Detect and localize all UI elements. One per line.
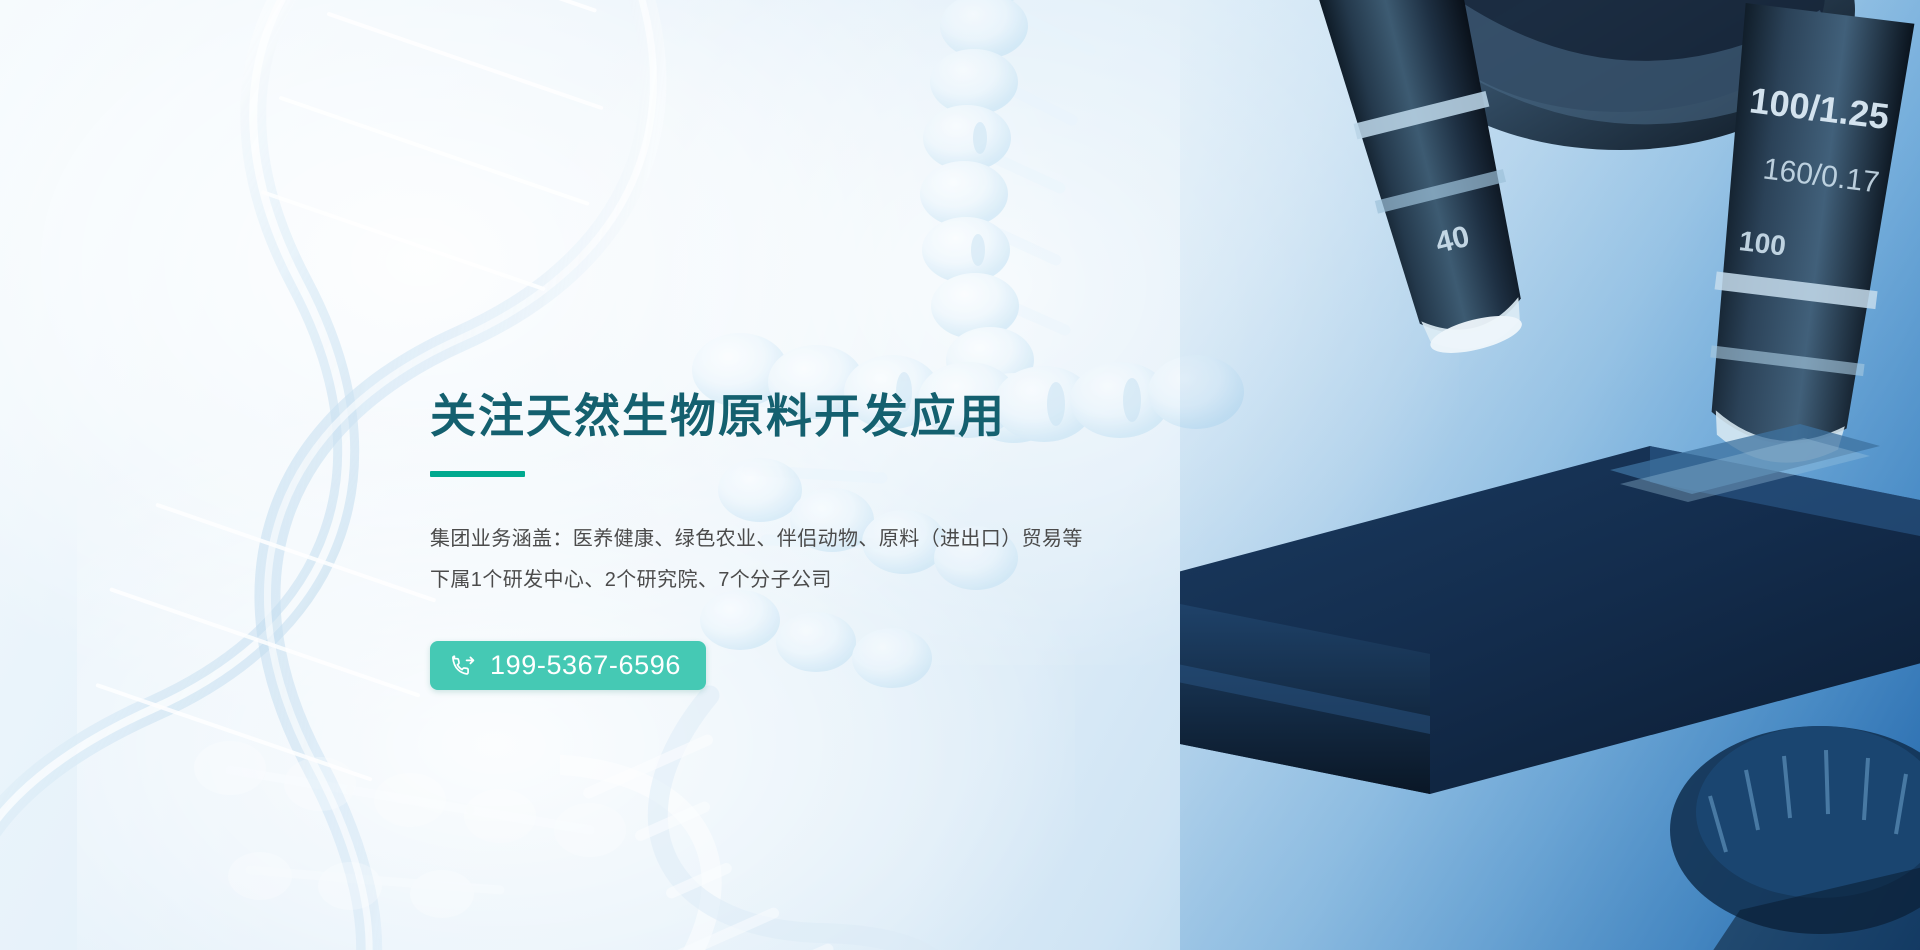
hero-description: 集团业务涵盖：医养健康、绿色农业、伴侣动物、原料（进出口）贸易等 下属1个研发中… (430, 519, 1190, 601)
microscope-icon: 40 100/1.25 160/0.17 100 (1180, 0, 1920, 950)
page-title: 关注天然生物原料开发应用 (430, 390, 1190, 443)
phone-cta-button[interactable]: 199-5367-6596 (430, 641, 706, 690)
dna-molecule-model-bottom-icon (170, 680, 730, 950)
phone-number-label: 199-5367-6596 (490, 652, 681, 679)
description-line-1: 集团业务涵盖：医养健康、绿色农业、伴侣动物、原料（进出口）贸易等 (430, 519, 1190, 560)
title-underline-rule (430, 471, 525, 477)
hero-content: 关注天然生物原料开发应用 集团业务涵盖：医养健康、绿色农业、伴侣动物、原料（进出… (430, 390, 1190, 690)
phone-forward-icon (451, 652, 477, 678)
description-line-2: 下属1个研发中心、2个研究院、7个分子公司 (430, 560, 1190, 601)
hero-banner: 40 100/1.25 160/0.17 100 (0, 0, 1920, 950)
svg-text:100: 100 (1737, 225, 1787, 261)
